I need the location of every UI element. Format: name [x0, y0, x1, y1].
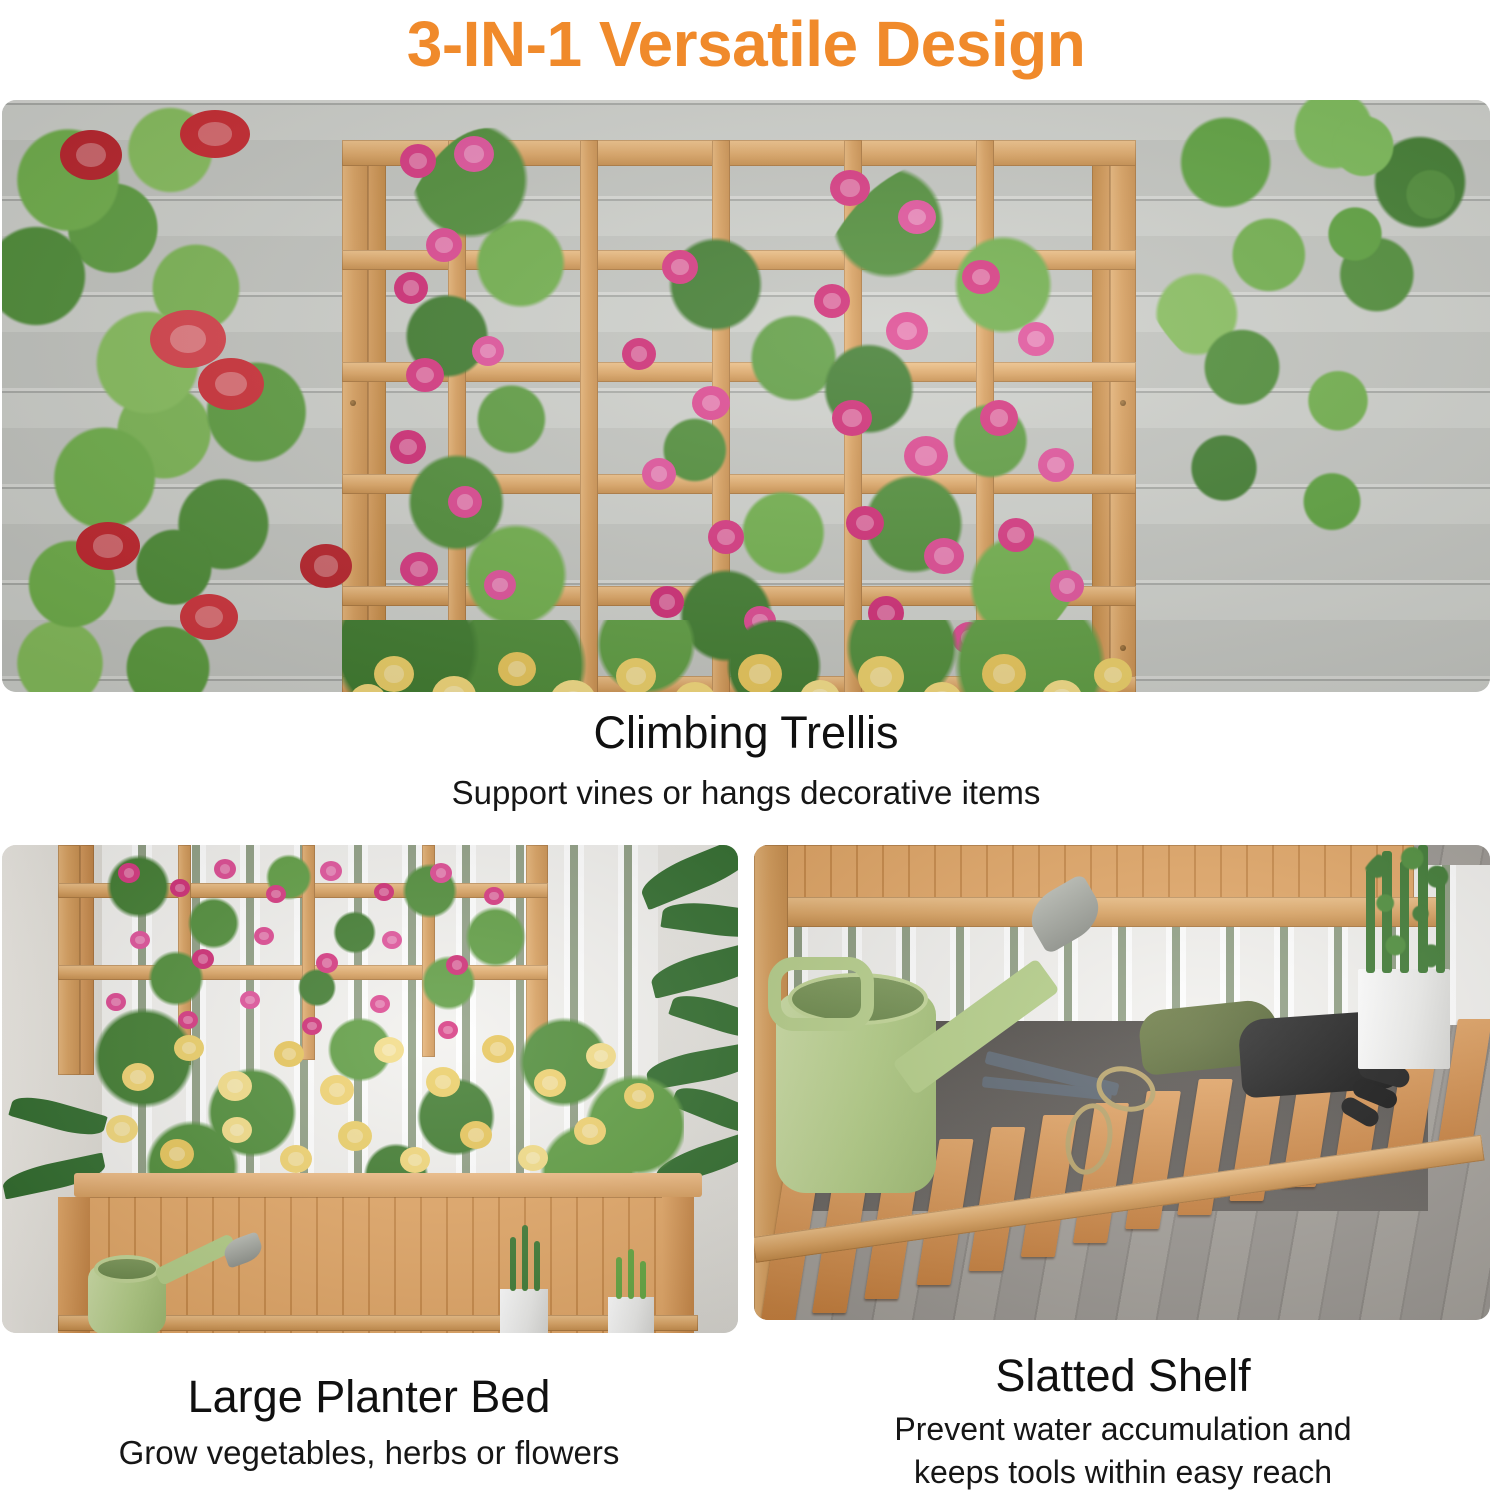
product-feature-infographic: 3-IN-1 Versatile Design: [0, 0, 1492, 1500]
photo-vignette: [754, 845, 1490, 1320]
photo-slatted-shelf: [754, 845, 1490, 1320]
caption-heading-large-planter-bed: Large Planter Bed: [0, 1370, 738, 1424]
photo-climbing-trellis: [2, 100, 1490, 692]
subtitle-line-1: Prevent water accumulation and: [754, 1408, 1492, 1451]
page-title: 3-IN-1 Versatile Design: [0, 2, 1492, 86]
caption-heading-climbing-trellis: Climbing Trellis: [0, 706, 1492, 760]
photo-vignette: [2, 845, 738, 1333]
photo-vignette: [2, 100, 1490, 692]
caption-subtitle-climbing-trellis: Support vines or hangs decorative items: [0, 772, 1492, 814]
caption-heading-slatted-shelf: Slatted Shelf: [754, 1349, 1492, 1403]
subtitle-line-2: keeps tools within easy reach: [754, 1451, 1492, 1494]
photo-large-planter-bed: [2, 845, 738, 1333]
caption-subtitle-slatted-shelf: Prevent water accumulation and keeps too…: [754, 1408, 1492, 1494]
caption-subtitle-large-planter-bed: Grow vegetables, herbs or flowers: [0, 1432, 738, 1474]
